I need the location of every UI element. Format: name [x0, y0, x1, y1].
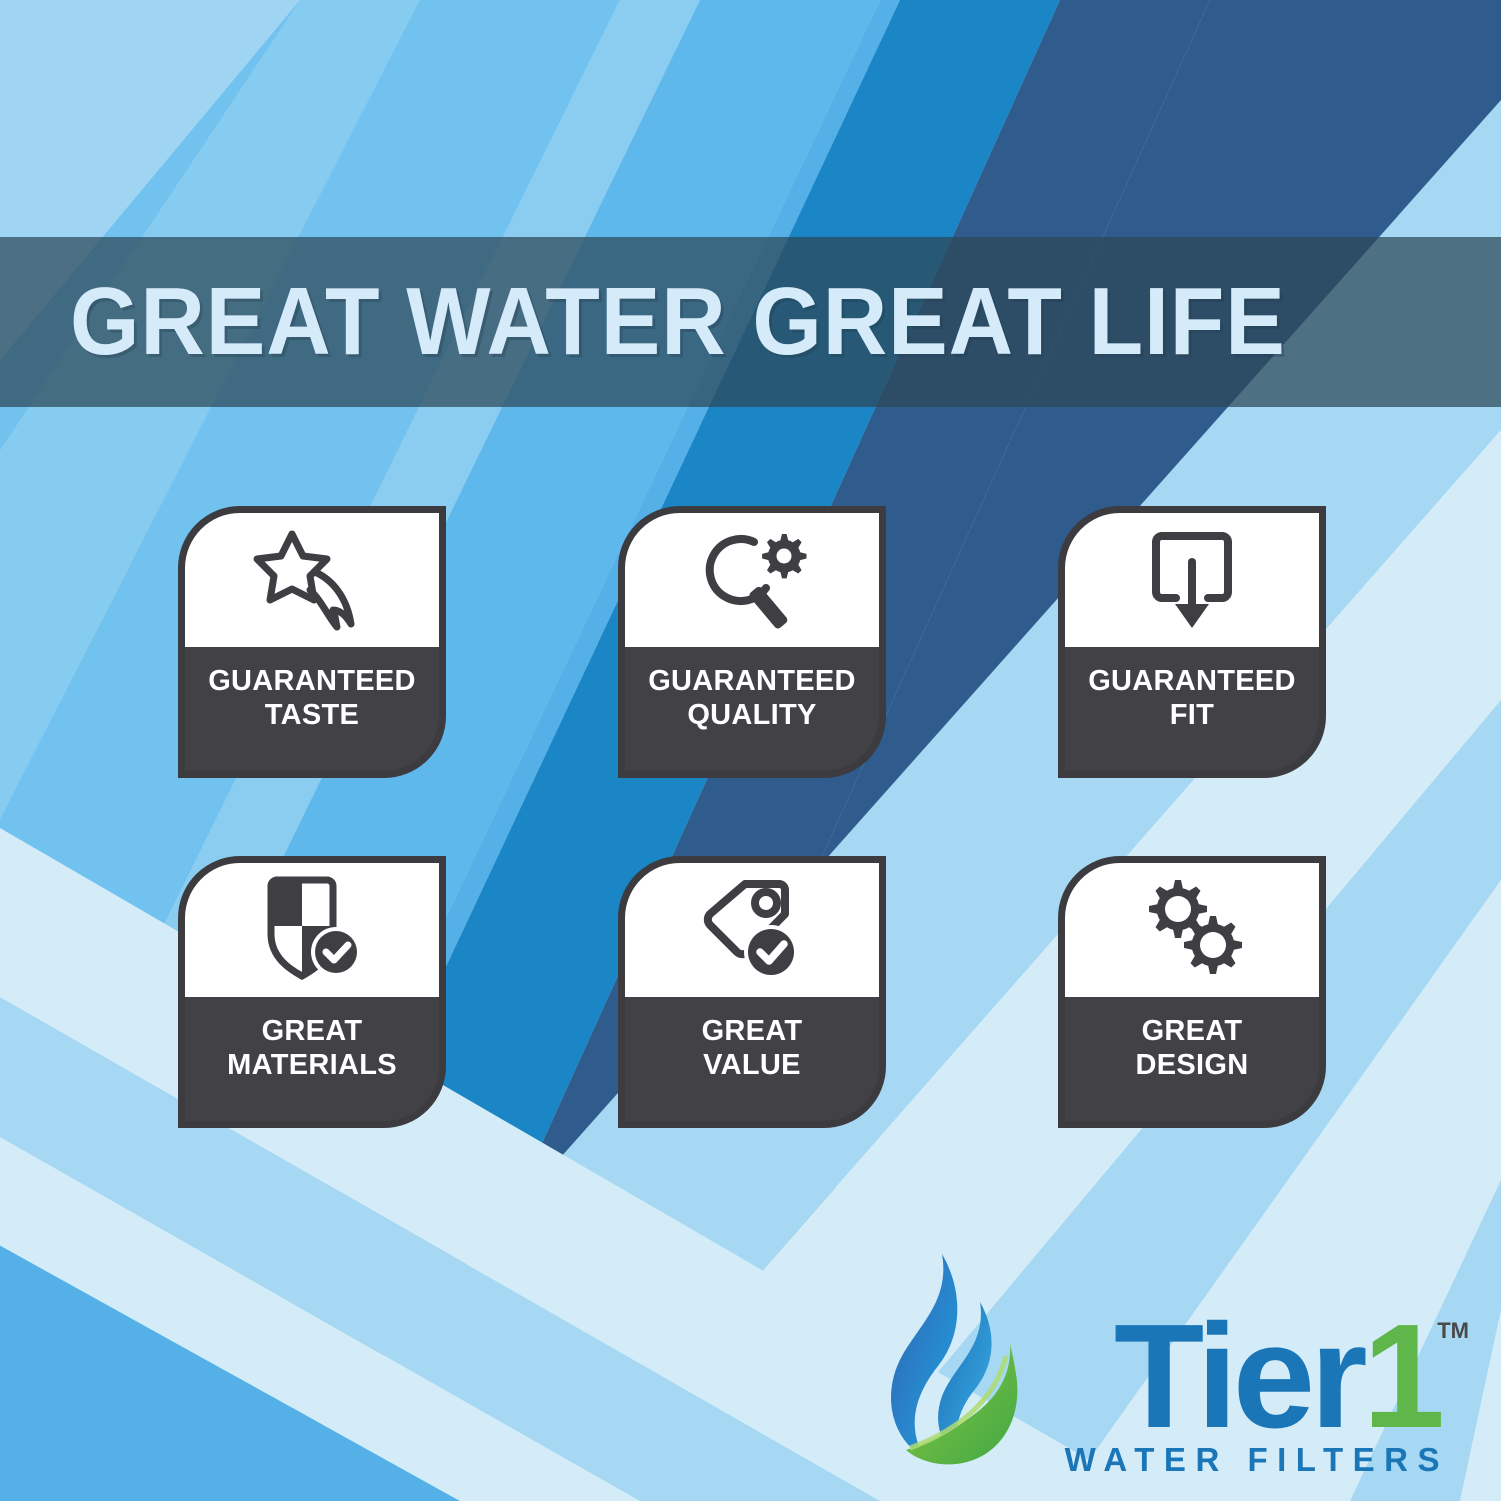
magnifier-gear-icon — [692, 526, 812, 634]
water-drop-leaf-icon — [876, 1248, 1061, 1478]
headline-banner: GREAT WATER GREAT LIFE — [0, 237, 1501, 407]
card-label-line1: GUARANTEED — [648, 664, 856, 698]
card-icon-panel — [1065, 513, 1319, 647]
card-label-line1: GREAT — [1142, 1014, 1243, 1048]
logo-text-block: Tier1 TM WATER FILTERS — [1065, 1316, 1443, 1483]
card-label-line2: MATERIALS — [227, 1048, 397, 1082]
card-label-line2: DESIGN — [1136, 1048, 1249, 1082]
card-label: GUARANTEED FIT — [1065, 647, 1319, 771]
feature-card-guaranteed-fit[interactable]: GUARANTEED FIT — [1058, 506, 1326, 778]
card-label: GREAT DESIGN — [1065, 997, 1319, 1121]
feature-card-great-value[interactable]: GREAT VALUE — [618, 856, 886, 1128]
brand-logo[interactable]: Tier1 TM WATER FILTERS — [876, 1248, 1443, 1483]
feature-card-grid: GUARANTEED TASTE — [178, 506, 1338, 1206]
card-label-line2: TASTE — [265, 698, 359, 732]
card-label: GUARANTEED TASTE — [185, 647, 439, 771]
card-label-line1: GREAT — [262, 1014, 363, 1048]
page-title: GREAT WATER GREAT LIFE — [70, 274, 1286, 370]
shield-check-icon — [257, 876, 367, 984]
card-label-line1: GREAT — [702, 1014, 803, 1048]
card-label-line1: GUARANTEED — [208, 664, 416, 698]
card-label-line2: QUALITY — [687, 698, 816, 732]
infographic-page: GREAT WATER GREAT LIFE GUARANTEED TASTE — [0, 0, 1501, 1501]
insert-down-arrow-icon — [1142, 526, 1242, 634]
logo-brand-accent: 1 — [1363, 1294, 1443, 1459]
feature-card-guaranteed-taste[interactable]: GUARANTEED TASTE — [178, 506, 446, 778]
card-icon-panel — [625, 513, 879, 647]
feature-card-guaranteed-quality[interactable]: GUARANTEED QUALITY — [618, 506, 886, 778]
card-icon-panel — [185, 863, 439, 997]
feature-card-row-1: GUARANTEED TASTE — [178, 506, 1338, 778]
card-icon-panel — [185, 513, 439, 647]
card-label-line1: GUARANTEED — [1088, 664, 1296, 698]
feature-card-row-2: GREAT MATERIALS — [178, 856, 1338, 1128]
card-label-line2: FIT — [1170, 698, 1214, 732]
price-tag-check-icon — [693, 876, 811, 984]
feature-card-great-materials[interactable]: GREAT MATERIALS — [178, 856, 446, 1128]
card-label-line2: VALUE — [703, 1048, 801, 1082]
shooting-star-icon — [253, 528, 371, 632]
logo-brand-name: Tier — [1114, 1294, 1363, 1459]
feature-card-great-design[interactable]: GREAT DESIGN — [1058, 856, 1326, 1128]
card-label: GUARANTEED QUALITY — [625, 647, 879, 771]
card-label: GREAT VALUE — [625, 997, 879, 1121]
card-label: GREAT MATERIALS — [185, 997, 439, 1121]
logo-wordmark: Tier1 TM — [1114, 1316, 1443, 1437]
trademark-symbol: TM — [1437, 1322, 1469, 1340]
logo-mark — [876, 1248, 1061, 1483]
card-icon-panel — [625, 863, 879, 997]
gears-icon — [1134, 876, 1250, 984]
card-icon-panel — [1065, 863, 1319, 997]
